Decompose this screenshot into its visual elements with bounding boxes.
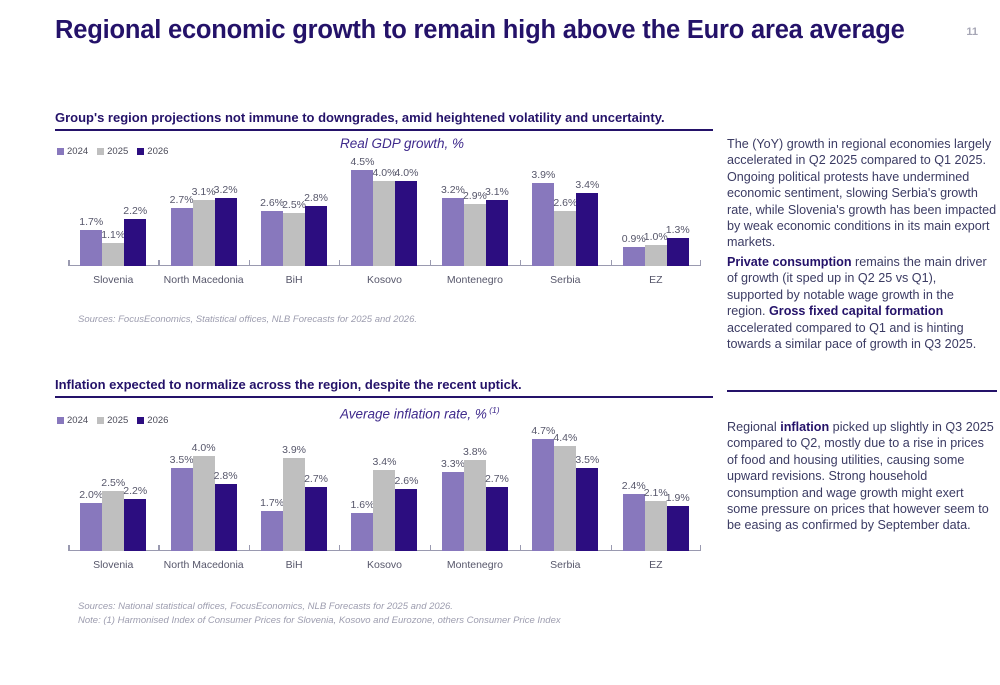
chart-legend-inflation: 202420252026 [57, 415, 168, 426]
bar-rect-2025 [283, 458, 305, 551]
commentary-inflation-run-0: Regional [727, 420, 780, 434]
bar-rect-2025 [283, 213, 305, 266]
commentary-gdp-p2-run-3: accelerated compared to Q1 and is hintin… [727, 321, 976, 351]
bar-2025-bih[interactable]: 2.5% [283, 170, 305, 266]
bar-2025-serbia[interactable]: 2.6% [554, 170, 576, 266]
bar-group-serbia: 4.7%4.4%3.5% [520, 439, 610, 551]
bar-value-label-2024-montenegro: 3.3% [441, 458, 465, 470]
commentary-divider [727, 390, 997, 392]
bar-rect-2025 [554, 446, 576, 551]
bar-rect-2025 [373, 181, 395, 266]
bar-value-label-2024-ez: 2.4% [622, 480, 646, 492]
section-header-inflation-rule [55, 396, 713, 398]
bar-2025-montenegro[interactable]: 2.9% [464, 170, 486, 266]
chart-average-inflation-rate: 202420252026Average inflation rate, % (1… [55, 405, 713, 585]
bar-rect-2024 [623, 494, 645, 551]
bar-2024-montenegro[interactable]: 3.2% [442, 170, 464, 266]
section-header-inflation: Inflation expected to normalize across t… [55, 377, 713, 398]
bar-rect-2026 [305, 487, 327, 551]
bar-value-label-2024-slovenia: 2.0% [79, 489, 103, 501]
bar-value-label-2025-north-macedonia: 3.1% [192, 186, 216, 198]
sources-inflation-line1: Sources: National statistical offices, F… [78, 600, 561, 614]
bar-2024-slovenia[interactable]: 2.0% [80, 439, 102, 551]
bar-rect-2024 [351, 170, 373, 266]
bar-group-bih: 2.6%2.5%2.8% [249, 170, 339, 266]
section-header-gdp-rule [55, 129, 713, 131]
category-label-montenegro: Montenegro [447, 559, 503, 571]
bar-rect-2026 [215, 484, 237, 551]
bar-value-label-2026-kosovo: 2.6% [395, 475, 419, 487]
bar-rect-2024 [261, 511, 283, 552]
bar-value-label-2026-serbia: 3.4% [575, 179, 599, 191]
bar-group-ez: 0.9%1.0%1.3% [611, 170, 701, 266]
bar-rect-2026 [667, 238, 689, 266]
bar-value-label-2025-serbia: 4.4% [553, 432, 577, 444]
bar-value-label-2024-serbia: 3.9% [531, 169, 555, 181]
bar-2026-kosovo[interactable]: 2.6% [395, 439, 417, 551]
section-header-inflation-text: Inflation expected to normalize across t… [55, 377, 713, 393]
bar-2026-montenegro[interactable]: 3.1% [486, 170, 508, 266]
bar-value-label-2026-ez: 1.9% [666, 492, 690, 504]
category-label-ez: EZ [649, 274, 662, 286]
bar-2024-kosovo[interactable]: 1.6% [351, 439, 373, 551]
bar-rect-2024 [623, 247, 645, 266]
bar-value-label-2026-north-macedonia: 2.8% [214, 470, 238, 482]
commentary-inflation-run-2: picked up slightly in Q3 2025 compared t… [727, 420, 994, 532]
category-label-montenegro: Montenegro [447, 274, 503, 286]
bar-2026-montenegro[interactable]: 2.7% [486, 439, 508, 551]
bar-value-label-2026-ez: 1.3% [666, 224, 690, 236]
bar-value-label-2025-kosovo: 4.0% [373, 167, 397, 179]
legend-item-2024[interactable]: 2024 [57, 415, 88, 426]
bar-value-label-2026-serbia: 3.5% [575, 454, 599, 466]
bar-2026-north-macedonia[interactable]: 2.8% [215, 439, 237, 551]
section-header-gdp-text: Group's region projections not immune to… [55, 110, 713, 126]
bar-group-montenegro: 3.2%2.9%3.1% [430, 170, 520, 266]
bar-2026-slovenia[interactable]: 2.2% [124, 439, 146, 551]
category-label-serbia: Serbia [550, 559, 580, 571]
bar-value-label-2024-kosovo: 1.6% [351, 499, 375, 511]
bar-2025-ez[interactable]: 2.1% [645, 439, 667, 551]
bar-rect-2026 [215, 198, 237, 266]
bar-rect-2026 [486, 487, 508, 551]
bar-value-label-2024-slovenia: 1.7% [79, 216, 103, 228]
legend-item-2024[interactable]: 2024 [57, 146, 88, 157]
bar-rect-2026 [305, 206, 327, 266]
bar-group-kosovo: 1.6%3.4%2.6% [339, 439, 429, 551]
bar-value-label-2024-bih: 2.6% [260, 197, 284, 209]
bar-rect-2025 [193, 200, 215, 266]
bar-value-label-2025-kosovo: 3.4% [373, 456, 397, 468]
plot-area-inflation: 2.0%2.5%2.2%Slovenia3.5%4.0%2.8%North Ma… [55, 439, 713, 551]
bar-rect-2026 [395, 489, 417, 551]
bar-2026-north-macedonia[interactable]: 3.2% [215, 170, 237, 266]
bar-2024-serbia[interactable]: 4.7% [532, 439, 554, 551]
bar-value-label-2026-bih: 2.8% [304, 192, 328, 204]
bar-group-slovenia: 1.7%1.1%2.2% [68, 170, 158, 266]
legend-item-2025[interactable]: 2025 [97, 415, 128, 426]
bar-group-north-macedonia: 3.5%4.0%2.8% [158, 439, 248, 551]
bar-2025-north-macedonia[interactable]: 3.1% [193, 170, 215, 266]
bar-value-label-2026-slovenia: 2.2% [123, 485, 147, 497]
bar-2026-serbia[interactable]: 3.4% [576, 170, 598, 266]
bar-value-label-2026-slovenia: 2.2% [123, 205, 147, 217]
bar-value-label-2026-montenegro: 2.7% [485, 473, 509, 485]
bar-group-slovenia: 2.0%2.5%2.2% [68, 439, 158, 551]
category-label-kosovo: Kosovo [367, 274, 402, 286]
bar-group-ez: 2.4%2.1%1.9% [611, 439, 701, 551]
legend-label-2025: 2025 [107, 415, 128, 426]
bar-rect-2026 [576, 468, 598, 551]
bar-2026-serbia[interactable]: 3.5% [576, 439, 598, 551]
bar-rect-2025 [464, 204, 486, 266]
bar-rect-2024 [351, 513, 373, 551]
chart-legend-gdp: 202420252026 [57, 146, 168, 157]
bar-rect-2025 [645, 245, 667, 266]
bar-rect-2024 [532, 439, 554, 551]
bar-rect-2024 [171, 208, 193, 266]
bar-rect-2025 [373, 470, 395, 551]
bar-group-serbia: 3.9%2.6%3.4% [520, 170, 610, 266]
plot-area-gdp: 1.7%1.1%2.2%Slovenia2.7%3.1%3.2%North Ma… [55, 170, 713, 266]
sources-gdp: Sources: FocusEconomics, Statistical off… [78, 313, 417, 327]
bar-2026-bih[interactable]: 2.7% [305, 439, 327, 551]
legend-label-2026: 2026 [147, 146, 168, 157]
bar-rect-2025 [102, 491, 124, 551]
legend-swatch-icon-2025 [97, 417, 104, 424]
commentary-inflation-paragraph: Regional inflation picked up slightly in… [727, 419, 995, 534]
bar-rect-2025 [464, 460, 486, 551]
category-label-serbia: Serbia [550, 274, 580, 286]
bar-value-label-2024-north-macedonia: 2.7% [170, 194, 194, 206]
bar-rect-2025 [102, 243, 124, 266]
bar-rect-2024 [532, 183, 554, 266]
bar-value-label-2025-bih: 2.5% [282, 199, 306, 211]
legend-swatch-icon-2026 [137, 417, 144, 424]
bar-group-kosovo: 4.5%4.0%4.0% [339, 170, 429, 266]
bar-rect-2025 [554, 211, 576, 266]
bar-rect-2024 [171, 468, 193, 551]
sources-inflation: Sources: National statistical offices, F… [78, 600, 561, 628]
bar-2024-serbia[interactable]: 3.9% [532, 170, 554, 266]
bar-value-label-2025-slovenia: 1.1% [101, 229, 125, 241]
bar-rect-2026 [576, 193, 598, 266]
bar-2026-bih[interactable]: 2.8% [305, 170, 327, 266]
category-label-north-macedonia: North Macedonia [164, 559, 244, 571]
legend-item-2025[interactable]: 2025 [97, 146, 128, 157]
category-label-slovenia: Slovenia [93, 274, 133, 286]
section-header-gdp: Group's region projections not immune to… [55, 110, 713, 131]
bar-value-label-2025-serbia: 2.6% [553, 197, 577, 209]
bar-rect-2024 [442, 472, 464, 551]
bar-group-montenegro: 3.3%3.8%2.7% [430, 439, 520, 551]
legend-label-2026: 2026 [147, 415, 168, 426]
bar-value-label-2025-slovenia: 2.5% [101, 477, 125, 489]
category-label-bih: BiH [286, 274, 303, 286]
bar-2026-slovenia[interactable]: 2.2% [124, 170, 146, 266]
bar-value-label-2024-kosovo: 4.5% [351, 156, 375, 168]
chart-title-text-gdp: Real GDP growth, % [340, 136, 464, 151]
bar-group-north-macedonia: 2.7%3.1%3.2% [158, 170, 248, 266]
chart-title-gdp: Real GDP growth, % [340, 136, 464, 151]
legend-item-2026[interactable]: 2026 [137, 146, 168, 157]
bar-2024-montenegro[interactable]: 3.3% [442, 439, 464, 551]
bar-rect-2026 [486, 200, 508, 266]
bar-2025-kosovo[interactable]: 3.4% [373, 439, 395, 551]
bar-value-label-2026-north-macedonia: 3.2% [214, 184, 238, 196]
legend-swatch-icon-2024 [57, 417, 64, 424]
bar-2025-slovenia[interactable]: 2.5% [102, 439, 124, 551]
slide-canvas: Regional economic growth to remain high … [0, 0, 1000, 685]
bar-2026-ez[interactable]: 1.9% [667, 439, 689, 551]
chart-title-text-inflation: Average inflation rate, % [340, 407, 487, 422]
bar-value-label-2025-ez: 1.0% [644, 231, 668, 243]
bar-2025-kosovo[interactable]: 4.0% [373, 170, 395, 266]
legend-label-2025: 2025 [107, 146, 128, 157]
commentary-gdp-p2-run-2: Gross fixed capital formation [769, 304, 943, 318]
category-label-kosovo: Kosovo [367, 559, 402, 571]
bar-value-label-2025-bih: 3.9% [282, 444, 306, 456]
bar-rect-2024 [261, 211, 283, 266]
bar-value-label-2025-montenegro: 2.9% [463, 190, 487, 202]
page-number: 11 [966, 26, 978, 38]
bar-2025-slovenia[interactable]: 1.1% [102, 170, 124, 266]
category-label-slovenia: Slovenia [93, 559, 133, 571]
legend-label-2024: 2024 [67, 415, 88, 426]
legend-item-2026[interactable]: 2026 [137, 415, 168, 426]
bar-rect-2024 [442, 198, 464, 266]
bar-value-label-2026-kosovo: 4.0% [395, 167, 419, 179]
commentary-gdp-paragraph-2: Private consumption remains the main dri… [727, 254, 995, 352]
bar-value-label-2025-north-macedonia: 4.0% [192, 442, 216, 454]
bar-2024-north-macedonia[interactable]: 3.5% [171, 439, 193, 551]
chart-real-gdp-growth: 202420252026Real GDP growth, %1.7%1.1%2.… [55, 136, 713, 296]
bar-2025-montenegro[interactable]: 3.8% [464, 439, 486, 551]
bar-2026-ez[interactable]: 1.3% [667, 170, 689, 266]
commentary-gdp-paragraph-1: The (YoY) growth in regional economies l… [727, 136, 999, 251]
bar-rect-2026 [124, 219, 146, 266]
category-label-ez: EZ [649, 559, 662, 571]
legend-swatch-icon-2024 [57, 148, 64, 155]
bar-2024-bih[interactable]: 2.6% [261, 170, 283, 266]
bar-rect-2024 [80, 230, 102, 266]
legend-swatch-icon-2025 [97, 148, 104, 155]
bar-2024-ez[interactable]: 0.9% [623, 170, 645, 266]
bar-2025-north-macedonia[interactable]: 4.0% [193, 439, 215, 551]
bar-2026-kosovo[interactable]: 4.0% [395, 170, 417, 266]
bar-value-label-2025-montenegro: 3.8% [463, 446, 487, 458]
bar-2024-slovenia[interactable]: 1.7% [80, 170, 102, 266]
commentary-gdp-p2-run-0: Private consumption [727, 255, 852, 269]
bar-rect-2025 [645, 501, 667, 551]
bar-rect-2026 [124, 499, 146, 551]
bar-2024-bih[interactable]: 1.7% [261, 439, 283, 551]
chart-title-superscript-inflation: (1) [487, 405, 500, 415]
chart-title-inflation: Average inflation rate, % (1) [340, 405, 500, 422]
sources-inflation-line2: Note: (1) Harmonised Index of Consumer P… [78, 614, 561, 628]
bar-value-label-2024-north-macedonia: 3.5% [170, 454, 194, 466]
bar-value-label-2026-bih: 2.7% [304, 473, 328, 485]
bar-2024-kosovo[interactable]: 4.5% [351, 170, 373, 266]
category-label-bih: BiH [286, 559, 303, 571]
commentary-inflation-run-1: inflation [780, 420, 829, 434]
bar-2025-ez[interactable]: 1.0% [645, 170, 667, 266]
bar-value-label-2024-ez: 0.9% [622, 233, 646, 245]
legend-swatch-icon-2026 [137, 148, 144, 155]
legend-label-2024: 2024 [67, 146, 88, 157]
bar-2024-north-macedonia[interactable]: 2.7% [171, 170, 193, 266]
bar-rect-2024 [80, 503, 102, 551]
bar-rect-2026 [395, 181, 417, 266]
bar-2025-bih[interactable]: 3.9% [283, 439, 305, 551]
bar-value-label-2024-montenegro: 3.2% [441, 184, 465, 196]
bar-2025-serbia[interactable]: 4.4% [554, 439, 576, 551]
bar-rect-2026 [667, 506, 689, 551]
bar-rect-2025 [193, 456, 215, 551]
bar-value-label-2024-bih: 1.7% [260, 497, 284, 509]
bar-value-label-2026-montenegro: 3.1% [485, 186, 509, 198]
bar-value-label-2024-serbia: 4.7% [531, 425, 555, 437]
bar-group-bih: 1.7%3.9%2.7% [249, 439, 339, 551]
page-title: Regional economic growth to remain high … [55, 16, 905, 45]
bar-value-label-2025-ez: 2.1% [644, 487, 668, 499]
category-label-north-macedonia: North Macedonia [164, 274, 244, 286]
bar-2024-ez[interactable]: 2.4% [623, 439, 645, 551]
